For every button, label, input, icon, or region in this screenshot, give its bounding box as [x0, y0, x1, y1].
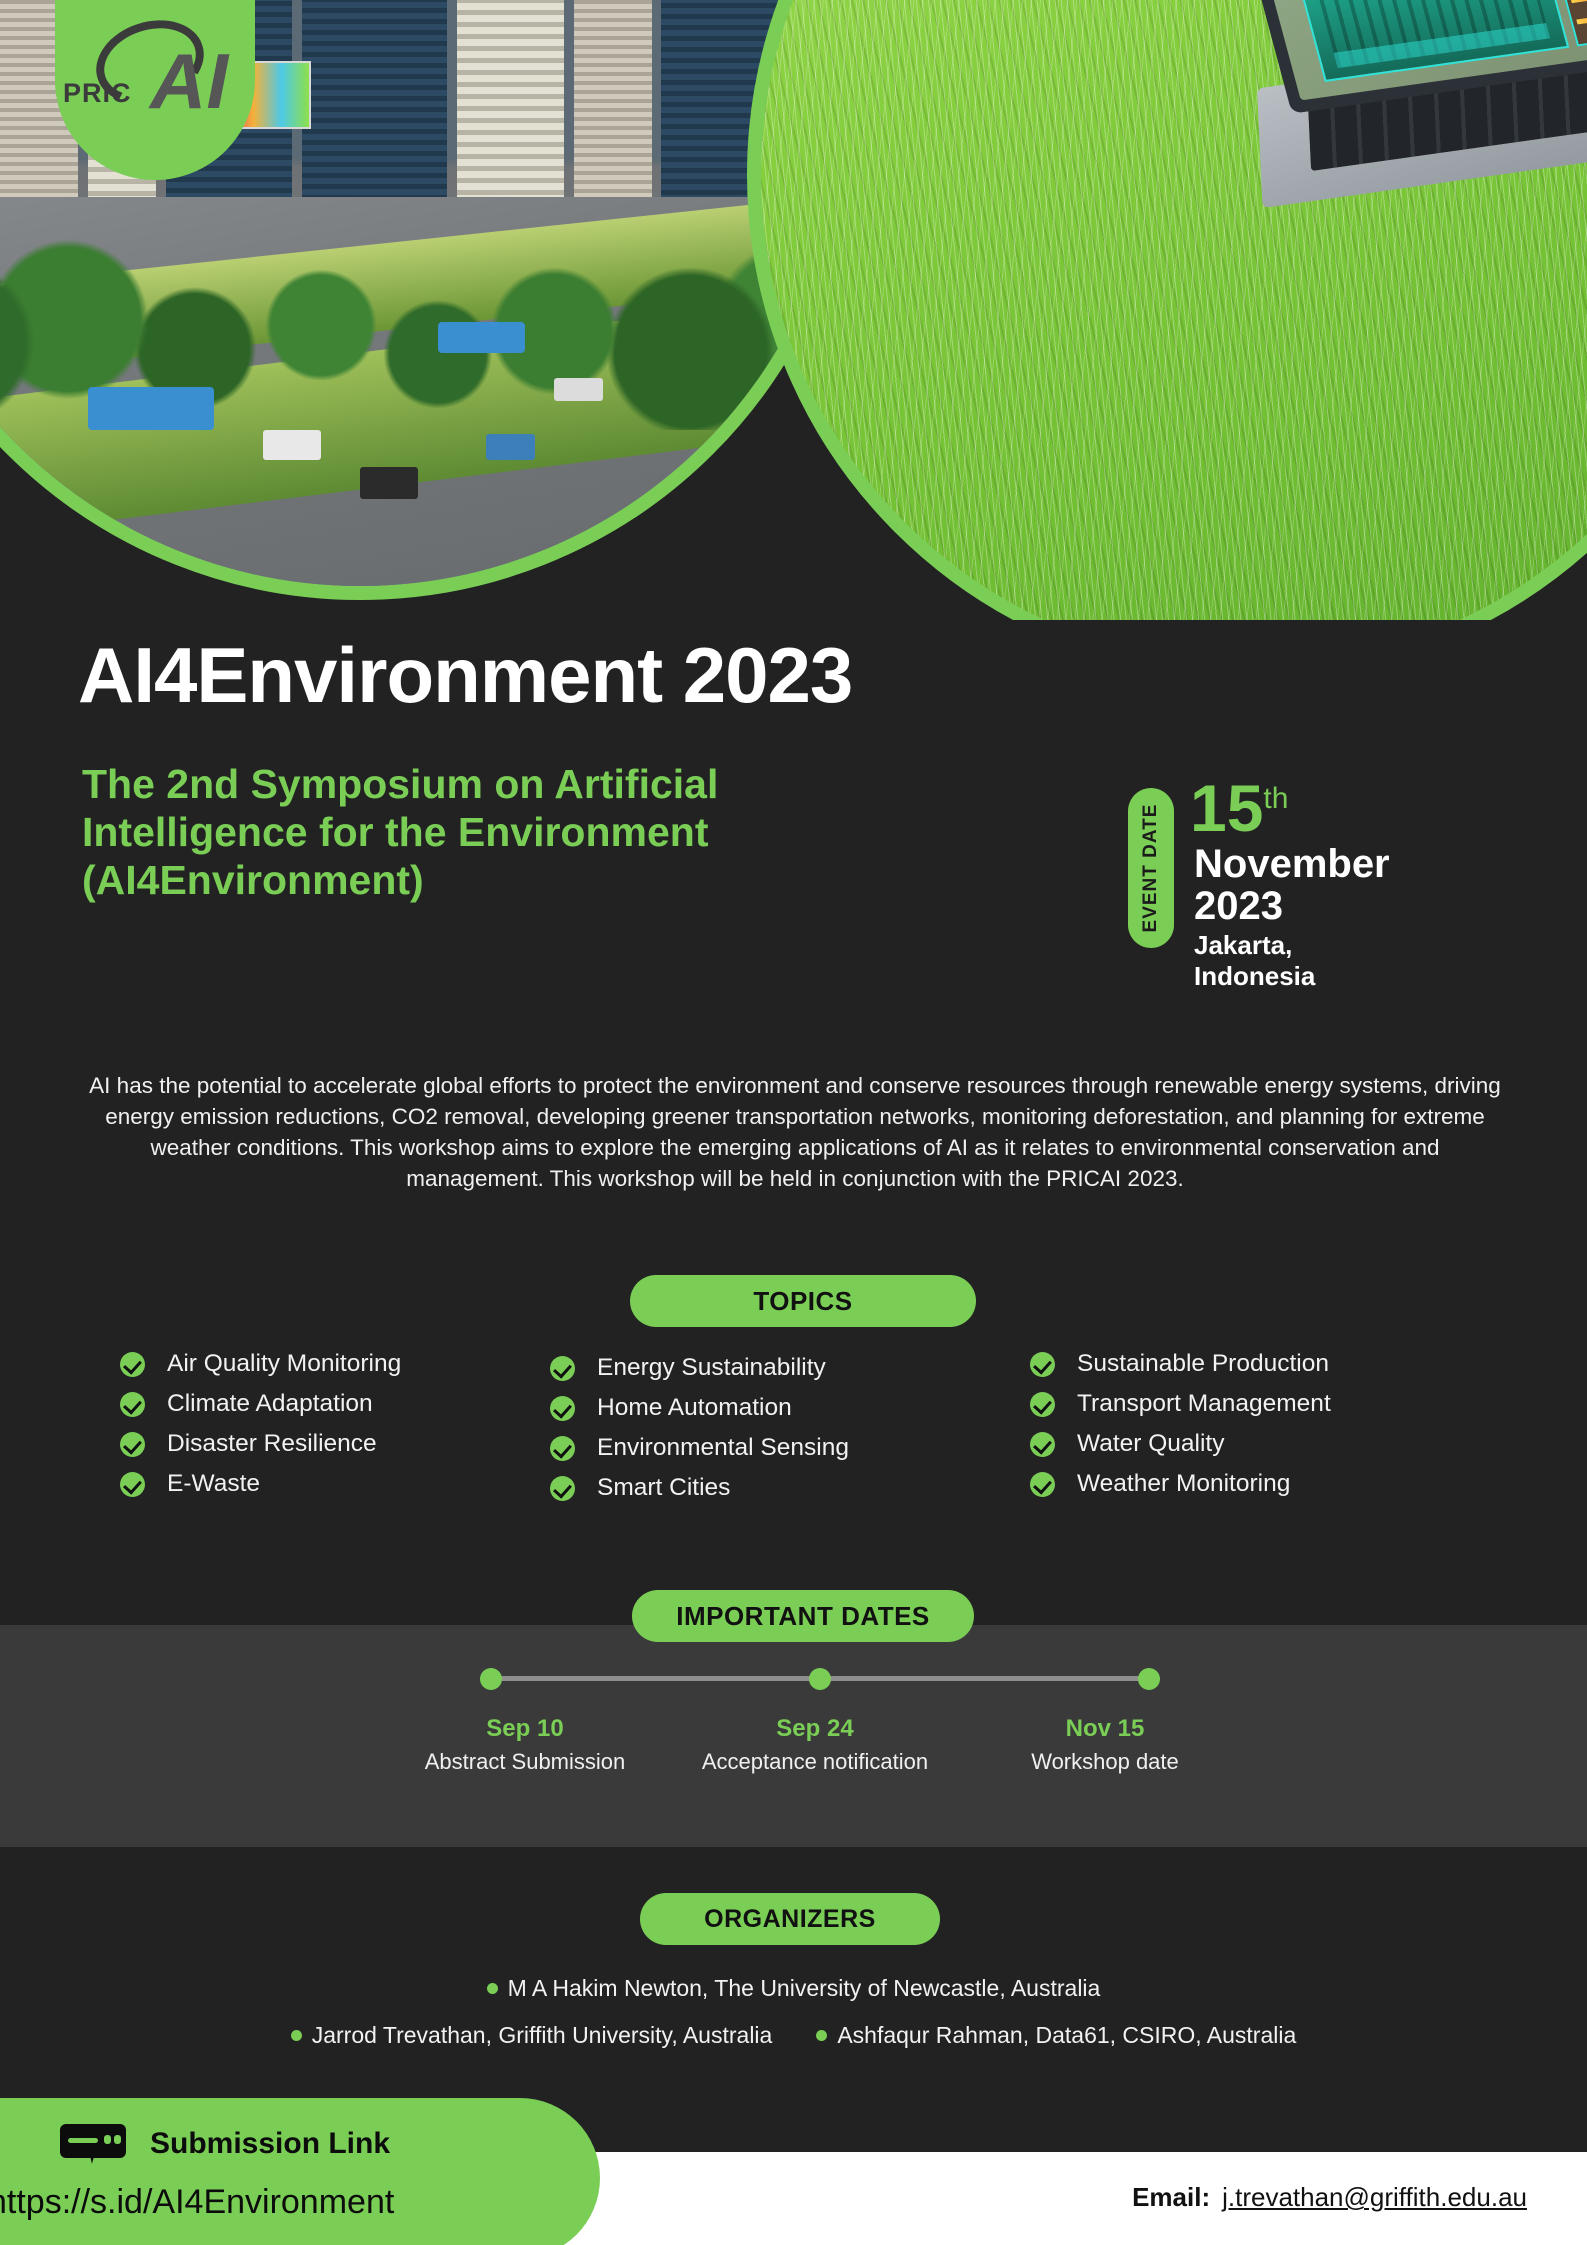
timeline-date: Nov 15: [960, 1715, 1250, 1743]
pricai-logo-mark: PRIC AI: [55, 30, 255, 150]
submission-link-pill[interactable]: Submission Link https://s.id/AI4Environm…: [0, 2098, 600, 2245]
gauge-ph: [1571, 0, 1587, 3]
topic-label: Disaster Resilience: [167, 1430, 377, 1458]
bullet-icon: [816, 2030, 827, 2041]
important-dates-heading: IMPORTANT DATES: [632, 1590, 974, 1642]
page-title: AI4Environment 2023: [78, 630, 852, 721]
topics-heading: TOPICS: [630, 1275, 976, 1327]
check-icon: [1030, 1392, 1055, 1417]
timeline-dot: [809, 1668, 831, 1690]
submission-link-label: Submission Link: [150, 2127, 390, 2161]
topic-label: E-Waste: [167, 1470, 260, 1498]
list-item: Home Automation: [550, 1394, 1030, 1422]
check-icon: [1030, 1472, 1055, 1497]
check-icon: [120, 1432, 145, 1457]
topic-label: Climate Adaptation: [167, 1390, 373, 1418]
check-icon: [550, 1396, 575, 1421]
timeline-date: Sep 24: [670, 1715, 960, 1743]
car: [486, 434, 535, 459]
timeline: [480, 1668, 1160, 1688]
timeline-item: Sep 10 Abstract Submission: [380, 1715, 670, 1774]
page-subtitle: The 2nd Symposium on Artificial Intellig…: [82, 760, 782, 904]
submission-link-header: Submission Link: [60, 2124, 390, 2164]
logo-ai-text: AI: [150, 42, 228, 120]
list-item: Smart Cities: [550, 1474, 1030, 1502]
list-item: Weather Monitoring: [1030, 1470, 1480, 1498]
topics-column-1: Air Quality Monitoring Climate Adaptatio…: [120, 1350, 550, 1502]
check-icon: [550, 1476, 575, 1501]
bus: [88, 387, 214, 431]
check-icon: [120, 1352, 145, 1377]
bullet-icon: [291, 2030, 302, 2041]
email-address[interactable]: j.trevathan@griffith.edu.au: [1222, 2182, 1527, 2213]
email-label: Email:: [1132, 2182, 1210, 2213]
list-item: Transport Management: [1030, 1390, 1480, 1418]
car: [263, 430, 321, 459]
list-item: Ashfaqur Rahman, Data61, CSIRO, Australi…: [816, 2022, 1296, 2049]
check-icon: [120, 1472, 145, 1497]
list-item: Disaster Resilience: [120, 1430, 550, 1458]
organizer-name: Ashfaqur Rahman, Data61, CSIRO, Australi…: [837, 2022, 1296, 2049]
timeline-item: Sep 24 Acceptance notification: [670, 1715, 960, 1774]
timeline-desc: Abstract Submission: [380, 1749, 670, 1774]
email-line: Email: j.trevathan@griffith.edu.au: [1132, 2182, 1527, 2213]
topic-label: Water Quality: [1077, 1430, 1225, 1458]
car: [360, 467, 418, 498]
topic-label: Smart Cities: [597, 1474, 730, 1502]
topics-list: Air Quality Monitoring Climate Adaptatio…: [120, 1350, 1480, 1502]
description-paragraph: AI has the potential to accelerate globa…: [80, 1070, 1510, 1194]
list-item: M A Hakim Newton, The University of Newc…: [487, 1975, 1101, 2002]
organizer-name: Jarrod Trevathan, Griffith University, A…: [312, 2022, 773, 2049]
agriculture-photo-circle: Ca N P S K Mg: [747, 0, 1587, 620]
organizer-name: M A Hakim Newton, The University of Newc…: [508, 1975, 1101, 2002]
timeline-dot: [480, 1668, 502, 1690]
event-day-ordinal: th: [1263, 782, 1288, 815]
topic-label: Transport Management: [1077, 1390, 1331, 1418]
event-date-pill: EVENT DATE: [1128, 788, 1174, 948]
check-icon: [550, 1356, 575, 1381]
organizers-row-1: M A Hakim Newton, The University of Newc…: [0, 1975, 1587, 2002]
bus: [438, 322, 525, 353]
topic-label: Air Quality Monitoring: [167, 1350, 401, 1378]
car: [554, 378, 603, 401]
organizers-row-2: Jarrod Trevathan, Griffith University, A…: [0, 2022, 1587, 2049]
topic-label: Sustainable Production: [1077, 1350, 1329, 1378]
list-item: Jarrod Trevathan, Griffith University, A…: [291, 2022, 773, 2049]
logo-text: PRIC: [63, 78, 132, 109]
event-date-pill-label: EVENT DATE: [1140, 804, 1162, 933]
event-day: 15th: [1190, 770, 1288, 846]
organizers-heading: ORGANIZERS: [640, 1893, 940, 1945]
topic-label: Weather Monitoring: [1077, 1470, 1290, 1498]
check-icon: [120, 1392, 145, 1417]
timeline-labels: Sep 10 Abstract Submission Sep 24 Accept…: [380, 1715, 1250, 1774]
header-photo-collage: Ca N P S K Mg: [0, 0, 1587, 620]
gauge-pressure: [1576, 6, 1587, 24]
click-cursor-icon: [60, 2124, 126, 2164]
screen-chart: [1298, 0, 1569, 82]
event-location: Jakarta, Indonesia: [1194, 930, 1315, 992]
timeline-desc: Acceptance notification: [670, 1749, 960, 1774]
list-item: Energy Sustainability: [550, 1354, 1030, 1382]
timeline-dot: [1138, 1668, 1160, 1690]
event-day-number: 15: [1190, 771, 1263, 845]
list-item: Water Quality: [1030, 1430, 1480, 1458]
list-item: Sustainable Production: [1030, 1350, 1480, 1378]
list-item: Environmental Sensing: [550, 1434, 1030, 1462]
topic-label: Environmental Sensing: [597, 1434, 849, 1462]
topics-column-3: Sustainable Production Transport Managem…: [1030, 1350, 1480, 1502]
list-item: Climate Adaptation: [120, 1390, 550, 1418]
check-icon: [1030, 1432, 1055, 1457]
list-item: E-Waste: [120, 1470, 550, 1498]
timeline-date: Sep 10: [380, 1715, 670, 1743]
list-item: Air Quality Monitoring: [120, 1350, 550, 1378]
check-icon: [1030, 1352, 1055, 1377]
topic-label: Energy Sustainability: [597, 1354, 826, 1382]
topic-label: Home Automation: [597, 1394, 792, 1422]
event-month-year: November 2023: [1194, 843, 1424, 927]
submission-url[interactable]: https://s.id/AI4Environment: [0, 2183, 394, 2222]
check-icon: [550, 1436, 575, 1461]
topics-column-2: Energy Sustainability Home Automation En…: [550, 1350, 1030, 1502]
bullet-icon: [487, 1983, 498, 1994]
poster-root: Ca N P S K Mg: [0, 0, 1587, 2245]
timeline-desc: Workshop date: [960, 1749, 1250, 1774]
timeline-item: Nov 15 Workshop date: [960, 1715, 1250, 1774]
